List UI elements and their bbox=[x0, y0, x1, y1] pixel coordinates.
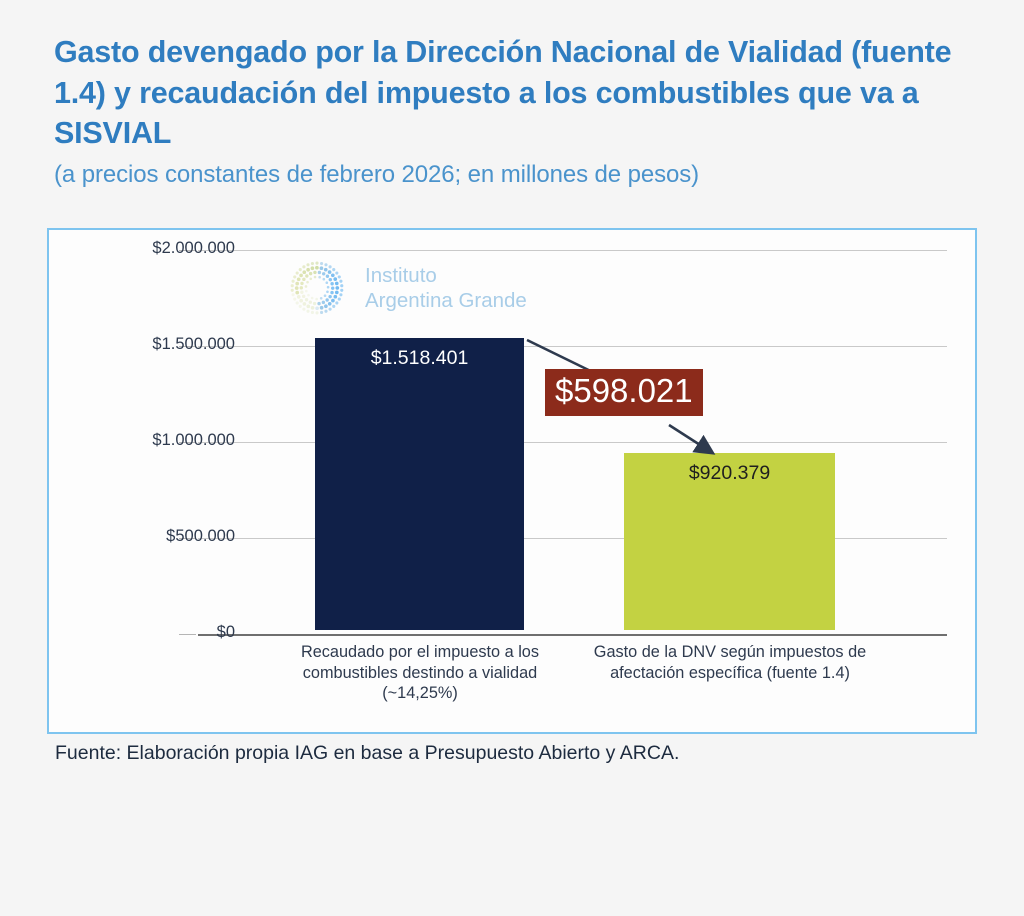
bar-gasto-dnv[interactable]: $920.379 bbox=[624, 453, 835, 630]
chart-page: Gasto devengado por la Dirección Naciona… bbox=[0, 0, 1024, 916]
ytick-label-500000: $500.000 bbox=[75, 527, 235, 546]
ytick-label-1500000: $1.500.000 bbox=[75, 335, 235, 354]
source-note: Fuente: Elaboración propia IAG en base a… bbox=[55, 742, 679, 765]
difference-annotation-badge: $598.021 bbox=[545, 369, 703, 416]
title-block: Gasto devengado por la Dirección Naciona… bbox=[54, 32, 994, 190]
gridline-2000000 bbox=[198, 250, 947, 251]
logo-line-2: Argentina Grande bbox=[365, 288, 527, 313]
arrow-to-green-bar bbox=[669, 425, 711, 452]
bar-value-label-1: $920.379 bbox=[624, 462, 835, 485]
ytick-label-1000000: $1.000.000 bbox=[75, 431, 235, 450]
gridline-1000000 bbox=[198, 442, 947, 443]
page-subtitle: (a precios constantes de febrero 2026; e… bbox=[54, 161, 994, 190]
ytick-label-2000000: $2.000.000 bbox=[75, 239, 235, 258]
plot-area: $2.000.000 $1.500.000 $1.000.000 $500.00… bbox=[49, 230, 975, 732]
page-title: Gasto devengado por la Dirección Naciona… bbox=[54, 32, 984, 154]
logo-line-1: Instituto bbox=[365, 263, 527, 288]
instituto-argentina-grande-ring-logo-icon bbox=[284, 252, 350, 324]
xtick-label-0: Recaudado por el impuesto a los combusti… bbox=[264, 642, 576, 704]
bar-recaudado-impuesto-combustibles[interactable]: $1.518.401 bbox=[315, 338, 524, 630]
chart-container: $2.000.000 $1.500.000 $1.000.000 $500.00… bbox=[47, 228, 977, 734]
ytick-label-0: $0 bbox=[75, 623, 235, 642]
axis-line-zero bbox=[198, 634, 947, 636]
xtick-label-1: Gasto de la DNV según impuestos de afect… bbox=[589, 642, 871, 683]
logo-text: Instituto Argentina Grande bbox=[365, 263, 527, 313]
bar-value-label-0: $1.518.401 bbox=[315, 347, 524, 370]
logo: Instituto Argentina Grande bbox=[284, 252, 527, 324]
gridline-1500000 bbox=[198, 346, 947, 347]
